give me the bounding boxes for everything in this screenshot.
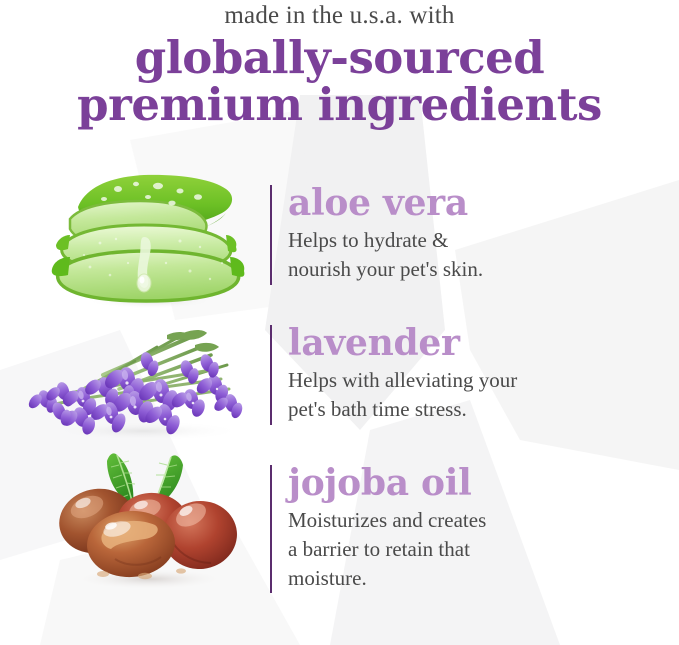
page-title-line-2: premium ingredients (0, 80, 679, 130)
ingredient-name-jojoba-oil: jojoba oil (288, 443, 668, 505)
eyebrow-text: made in the u.s.a. with (0, 0, 679, 31)
ingredient-text-lavender: lavender Helps with alleviating your pet… (288, 303, 668, 424)
divider-rule-jojoba-oil (270, 465, 272, 593)
ingredient-row-jojoba-oil: jojoba oil Moisturizes and creates a bar… (0, 443, 679, 593)
lavender-sprigs-image (15, 303, 265, 453)
ingredient-row-aloe-vera: aloe vera Helps to hydrate & nourish you… (0, 163, 679, 313)
jojoba-nuts-image (45, 443, 255, 593)
divider-rule-aloe-vera (270, 185, 272, 285)
ingredient-description-jojoba-oil: Moisturizes and creates a barrier to ret… (288, 505, 668, 593)
aloe-vera-slices-image (40, 163, 265, 313)
header: made in the u.s.a. with globally-sourced… (0, 0, 679, 130)
page-title-line-1: globally-sourced (0, 33, 679, 83)
ingredient-name-lavender: lavender (288, 303, 668, 365)
ingredient-text-jojoba-oil: jojoba oil Moisturizes and creates a bar… (288, 443, 668, 593)
ingredients-infographic: made in the u.s.a. with globally-sourced… (0, 0, 679, 645)
page-title: globally-sourced premium ingredients (0, 33, 679, 130)
ingredient-text-aloe-vera: aloe vera Helps to hydrate & nourish you… (288, 163, 668, 284)
ingredient-name-aloe-vera: aloe vera (288, 163, 668, 225)
divider-rule-lavender (270, 325, 272, 425)
ingredient-description-lavender: Helps with alleviating your pet's bath t… (288, 365, 668, 424)
ingredient-description-aloe-vera: Helps to hydrate & nourish your pet's sk… (288, 225, 668, 284)
ingredient-row-lavender: lavender Helps with alleviating your pet… (0, 303, 679, 453)
